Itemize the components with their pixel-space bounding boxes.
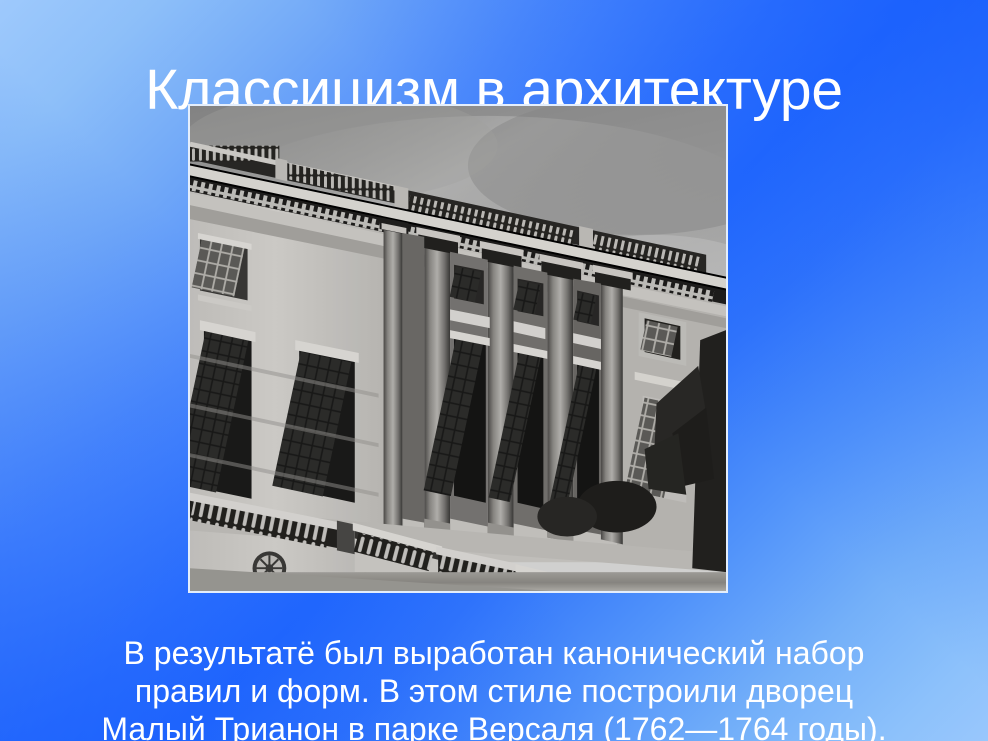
- body-paragraph: В результатё был выработан канонический …: [60, 634, 928, 741]
- body-line-3: Малый Трианон в парке Версаля (1762—1764…: [60, 710, 928, 741]
- trianon-photograph-graphic: [190, 106, 726, 591]
- trianon-photograph: [188, 104, 728, 593]
- body-line-2: правил и форм. В этом стиле построили дв…: [60, 672, 928, 710]
- photo-vignette: [190, 106, 726, 591]
- slide: Классицизм в архитектуре: [0, 0, 988, 741]
- body-line-1: В результатё был выработан канонический …: [60, 634, 928, 672]
